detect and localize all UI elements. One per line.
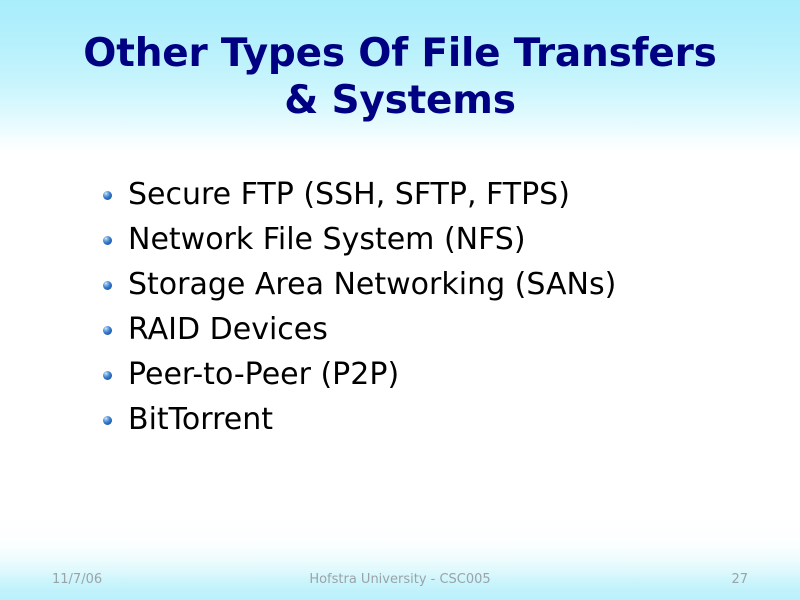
footer-course-label: Hofstra University - CSC005 <box>0 572 800 588</box>
slide-title: Other Types Of File Transfers & Systems <box>40 30 760 124</box>
list-item: Peer-to-Peer (P2P) <box>96 352 756 397</box>
list-item: Network File System (NFS) <box>96 217 756 262</box>
list-item: Storage Area Networking (SANs) <box>96 262 756 307</box>
blue-sphere-bullet-icon <box>103 281 112 290</box>
blue-sphere-bullet-icon <box>103 416 112 425</box>
bullet-list: Secure FTP (SSH, SFTP, FTPS) Network Fil… <box>96 172 756 442</box>
list-item-label: Peer-to-Peer (P2P) <box>128 357 399 393</box>
list-item-label: Network File System (NFS) <box>128 222 526 258</box>
blue-sphere-bullet-icon <box>103 236 112 245</box>
list-item: Secure FTP (SSH, SFTP, FTPS) <box>96 172 756 217</box>
list-item-label: RAID Devices <box>128 312 328 348</box>
list-item-label: Secure FTP (SSH, SFTP, FTPS) <box>128 177 570 213</box>
title-line-1: Other Types Of File Transfers <box>40 30 760 77</box>
list-item: RAID Devices <box>96 307 756 352</box>
title-line-2: & Systems <box>40 77 760 124</box>
slide-canvas: Other Types Of File Transfers & Systems … <box>0 0 800 600</box>
blue-sphere-bullet-icon <box>103 191 112 200</box>
list-item-label: Storage Area Networking (SANs) <box>128 267 616 303</box>
list-item: BitTorrent <box>96 397 756 442</box>
blue-sphere-bullet-icon <box>103 371 112 380</box>
footer-page-number: 27 <box>731 572 748 588</box>
blue-sphere-bullet-icon <box>103 326 112 335</box>
list-item-label: BitTorrent <box>128 402 273 438</box>
slide-footer: 11/7/06 Hofstra University - CSC005 27 <box>0 554 800 600</box>
